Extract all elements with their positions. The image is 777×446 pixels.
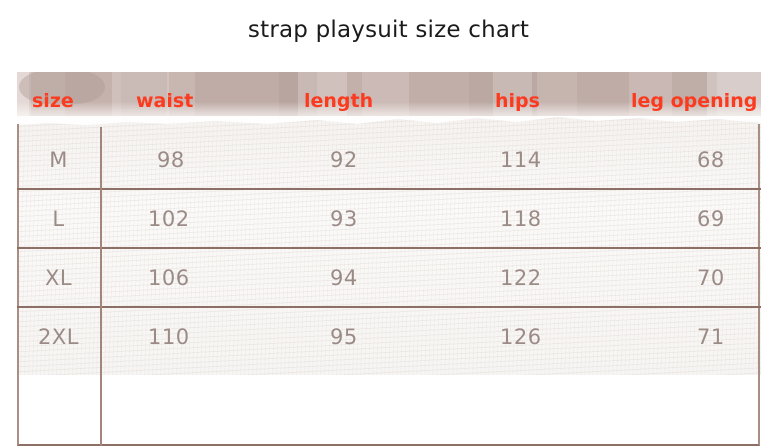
table-row: 94 <box>330 266 358 290</box>
table-row: 110 <box>148 325 190 349</box>
page-title: strap playsuit size chart <box>0 17 777 43</box>
table-row: 68 <box>697 148 725 172</box>
table-row: M <box>17 148 100 172</box>
table-row: 106 <box>148 266 190 290</box>
table-row: 118 <box>500 207 542 231</box>
column-header-hips: hips <box>495 90 540 112</box>
size-chart-page: strap playsuit size chart size waist len… <box>0 0 777 400</box>
fabric-ragged-edge <box>17 116 761 130</box>
table-row: 114 <box>500 148 542 172</box>
table-row: 122 <box>500 266 542 290</box>
table-row: 102 <box>148 207 190 231</box>
table-row: 70 <box>697 266 725 290</box>
column-header-waist: waist <box>136 90 193 112</box>
table-row: 69 <box>697 207 725 231</box>
table-row: XL <box>17 266 100 290</box>
column-header-length: length <box>304 90 373 112</box>
table-row: L <box>17 207 100 231</box>
column-header-leg-opening: leg opening <box>631 90 757 112</box>
table-row: 2XL <box>17 325 100 349</box>
table-row: 93 <box>330 207 358 231</box>
column-header-size: size <box>32 90 74 112</box>
table-row: 95 <box>330 325 358 349</box>
table-row: 126 <box>500 325 542 349</box>
table-body <box>17 116 761 375</box>
table-row: 92 <box>330 148 358 172</box>
table-row: 98 <box>157 148 185 172</box>
table-row: 71 <box>697 325 725 349</box>
size-chart-table: size waist length hips leg opening M 98 … <box>17 72 761 375</box>
